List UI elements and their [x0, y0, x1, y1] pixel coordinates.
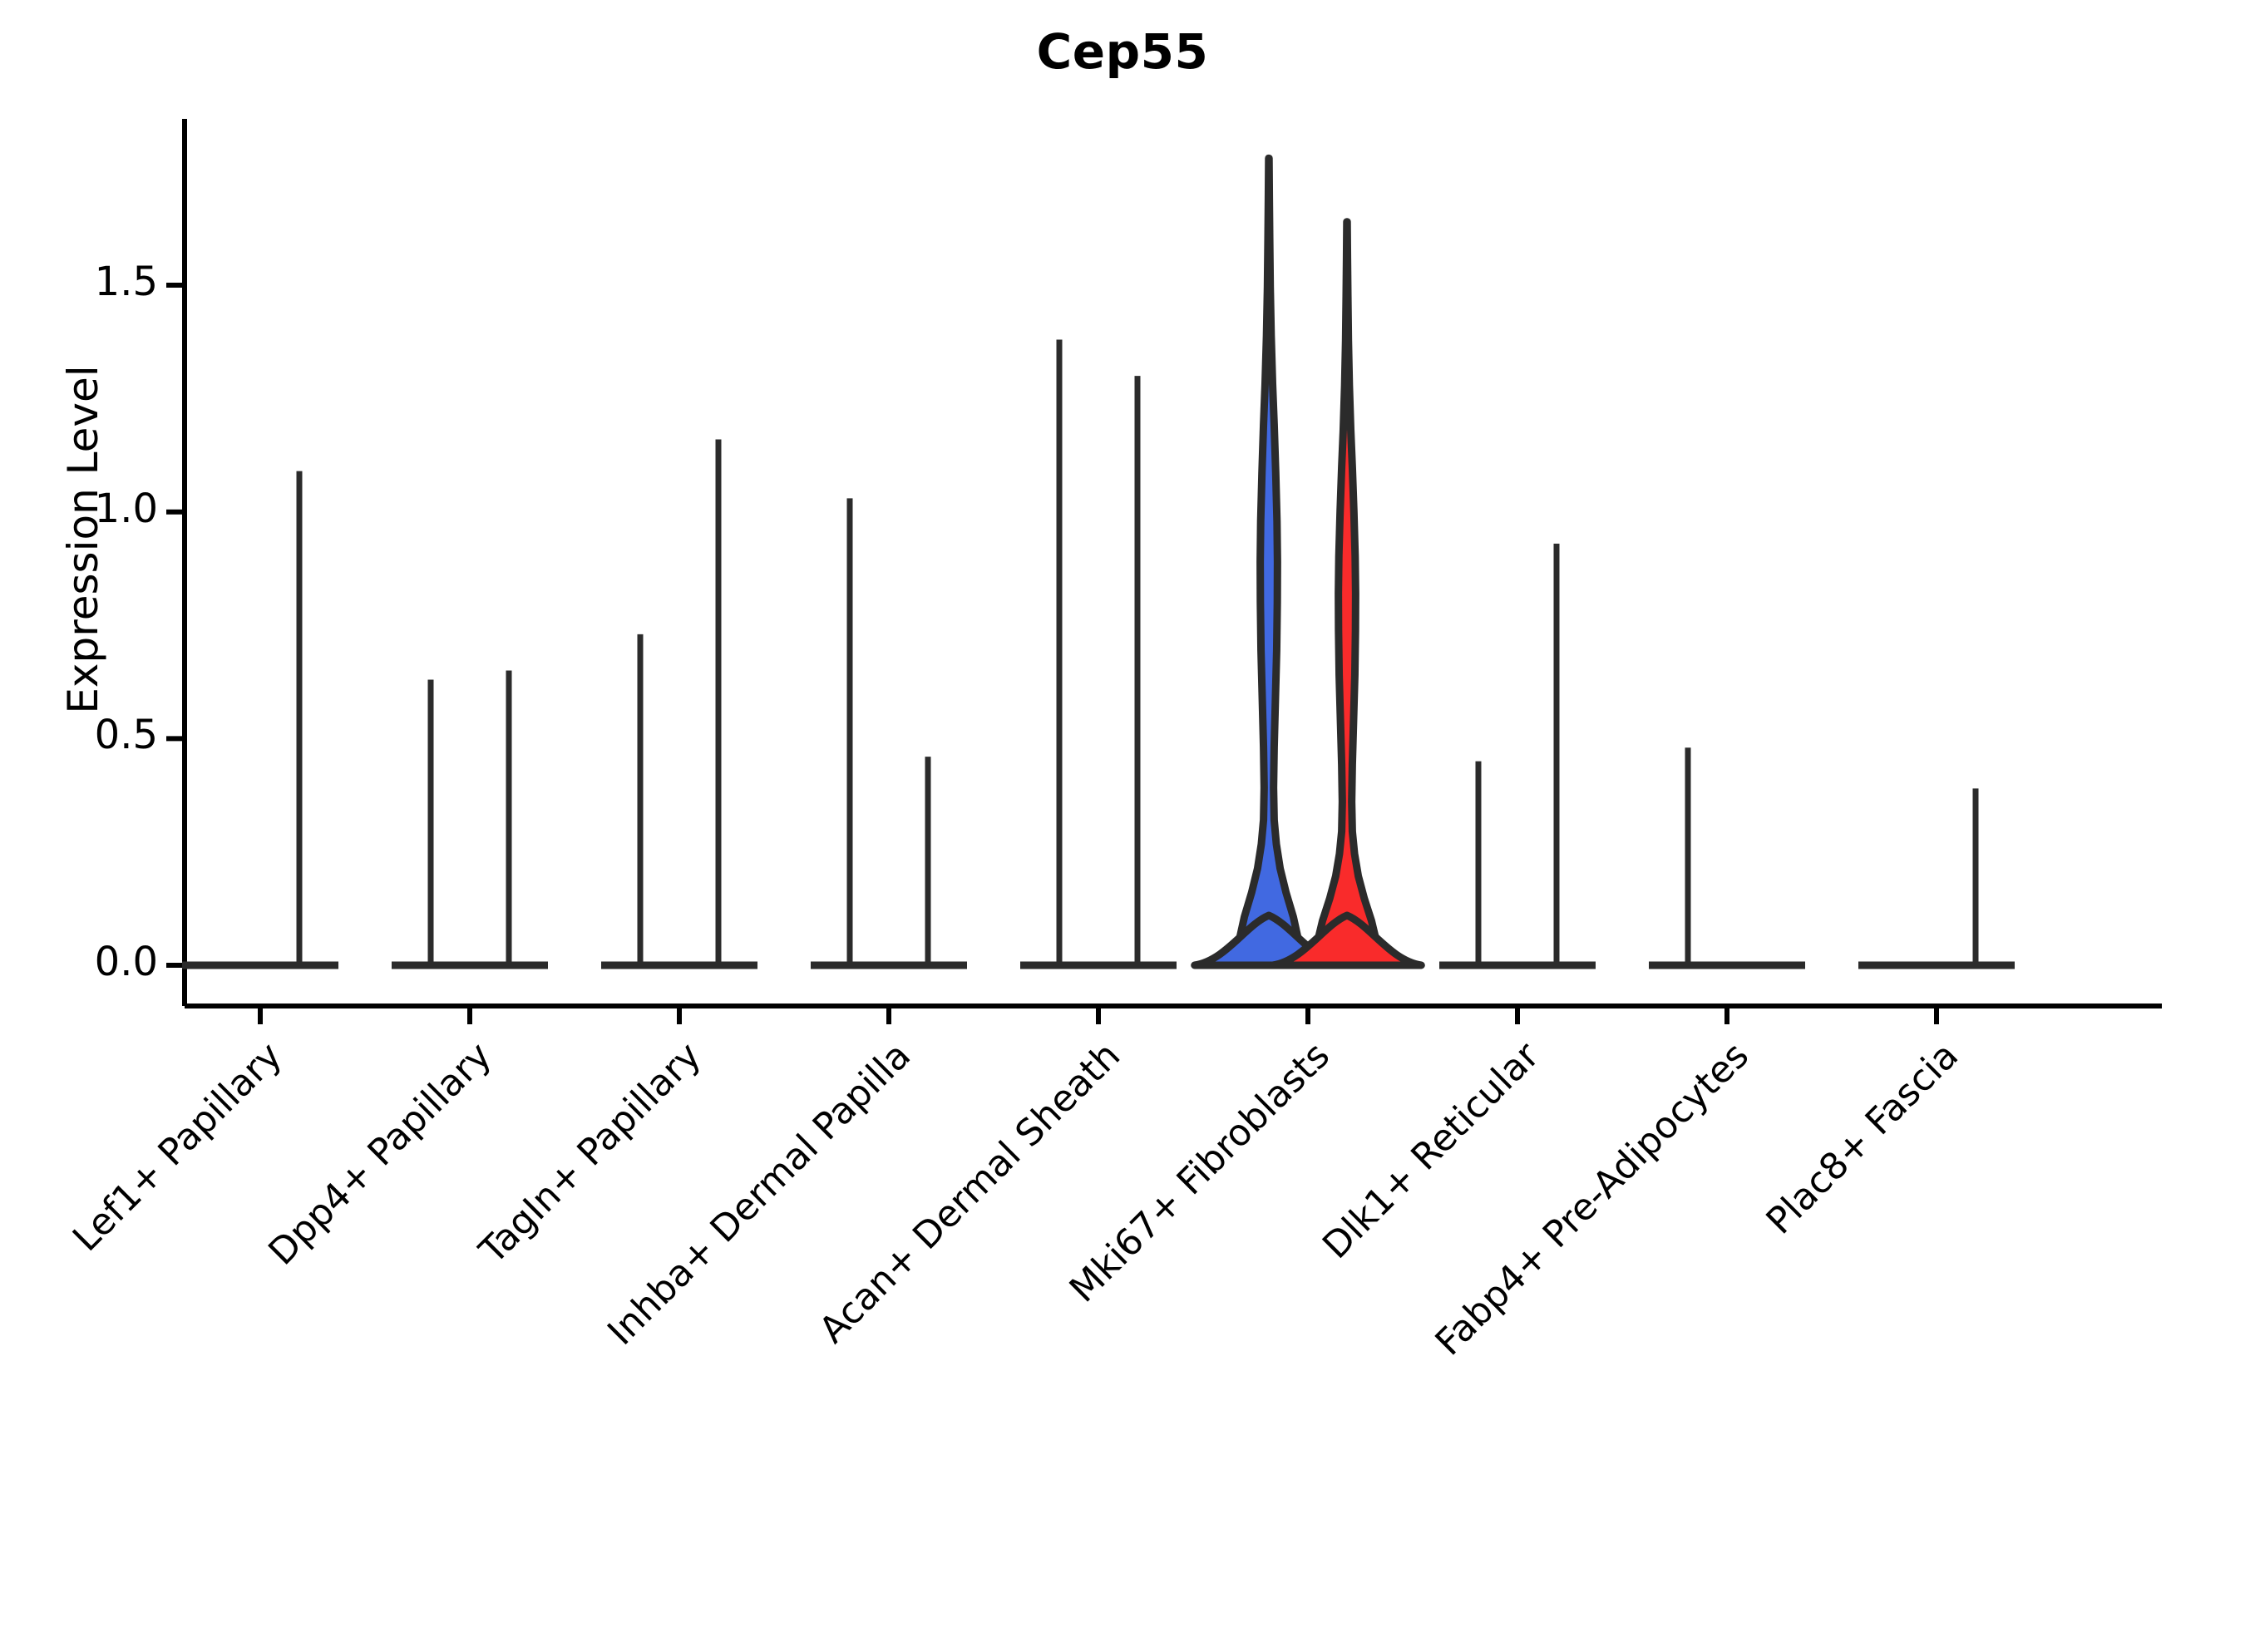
- y-tick-label: 0.0: [17, 939, 158, 985]
- violin-body: [1315, 222, 1378, 965]
- violin-plot-figure: Cep55 Expression Level 0.00.51.01.5Lef1+…: [0, 0, 2245, 1497]
- y-tick-label: 0.5: [17, 712, 158, 758]
- violin-body: [1237, 158, 1300, 965]
- y-tick-label: 1.5: [17, 259, 158, 305]
- y-tick-label: 1.0: [17, 486, 158, 532]
